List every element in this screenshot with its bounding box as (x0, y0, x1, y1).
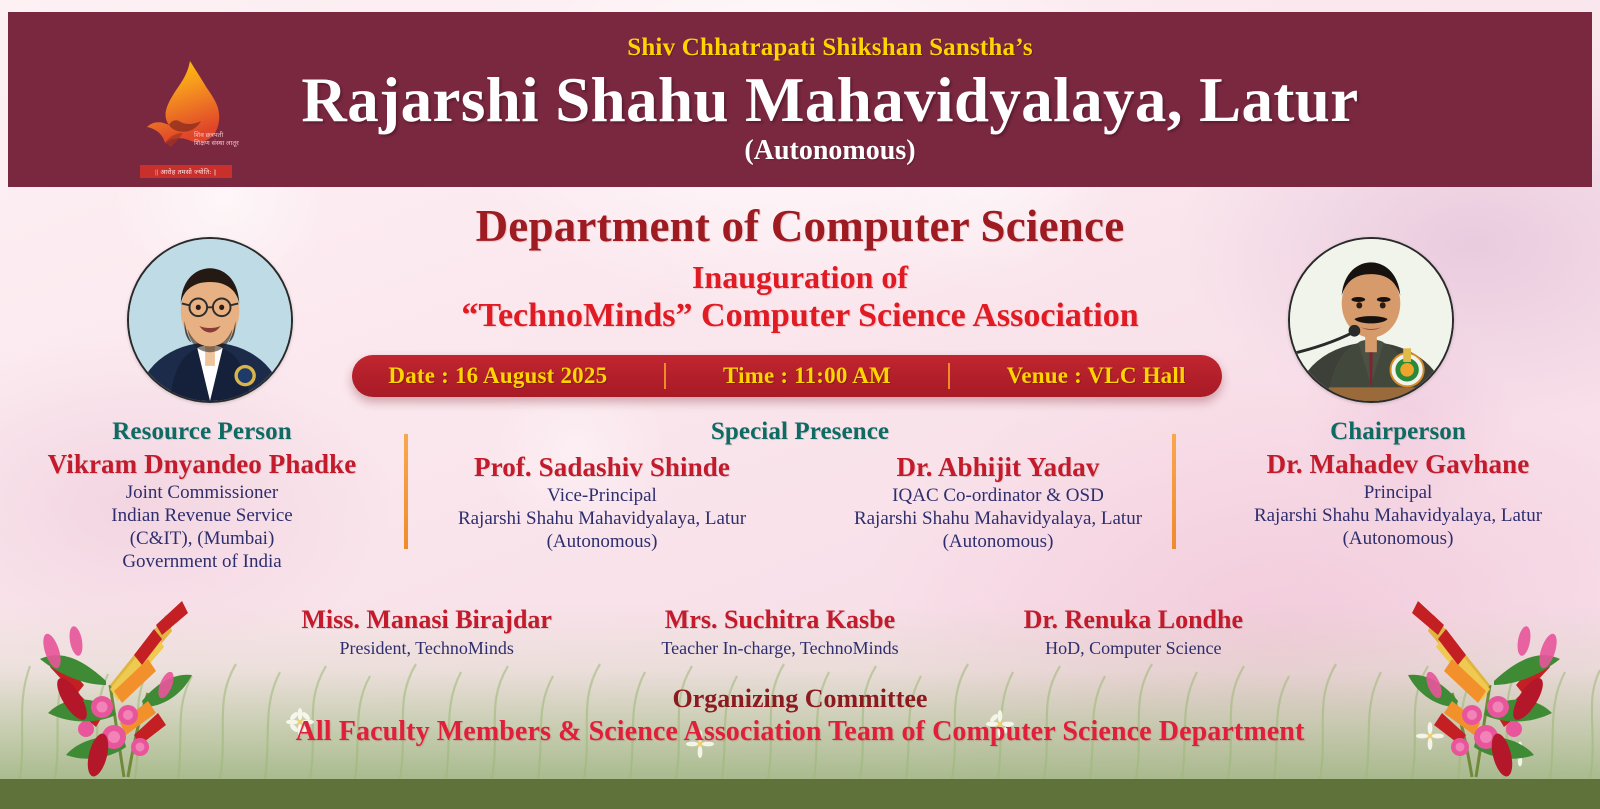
resource-person-photo (127, 237, 293, 403)
committee-person: Mrs. Suchitra Kasbe Teacher In-charge, T… (603, 604, 956, 660)
special-guest-1-autonomous: (Autonomous) (404, 530, 800, 553)
resource-person-role: Resource Person (0, 416, 404, 447)
header-text-block: Shiv Chhatrapati Shikshan Sanstha’s Raja… (8, 33, 1592, 167)
committee-person-role: HoD, Computer Science (957, 636, 1310, 660)
event-venue: Venue : VLC Hall (991, 363, 1202, 389)
special-guest-1: Prof. Sadashiv Shinde Vice-Principal Raj… (404, 450, 800, 553)
special-guest-2-institute: Rajarshi Shahu Mahavidyalaya, Latur (800, 507, 1196, 530)
event-details-ribbon: Date : 16 August 2025 Time : 11:00 AM Ve… (352, 355, 1222, 397)
special-guest-1-designation: Vice-Principal (404, 484, 800, 507)
committee-person-role: President, TechnoMinds (250, 636, 603, 660)
special-guest-2-autonomous: (Autonomous) (800, 530, 1196, 553)
logo-motto: || आरोह तमसो ज्योति: || (140, 165, 232, 178)
chairperson-photo (1288, 237, 1454, 403)
special-presence-role: Special Presence (404, 416, 1196, 447)
special-guest-2-designation: IQAC Co-ordinator & OSD (800, 484, 1196, 507)
chairperson-autonomous: (Autonomous) (1196, 527, 1600, 550)
special-guest-1-name: Prof. Sadashiv Shinde (404, 450, 800, 484)
banner-header: शिव छत्रपती शिक्षण संस्था लातूर || आरोह … (8, 12, 1592, 187)
committee-person: Dr. Renuka Londhe HoD, Computer Science (957, 604, 1310, 660)
event-date: Date : 16 August 2025 (372, 363, 623, 389)
chairperson-block: Chairperson Dr. Mahadev Gavhane Principa… (1196, 416, 1600, 573)
resource-person-line3: (C&IT), (Mumbai) (0, 527, 404, 550)
institution-logo: शिव छत्रपती शिक्षण संस्था लातूर || आरोह … (130, 38, 242, 178)
sanstha-name: Shiv Chhatrapati Shikshan Sanstha’s (68, 33, 1592, 63)
special-guest-2-name: Dr. Abhijit Yadav (800, 450, 1196, 484)
chairperson-name: Dr. Mahadev Gavhane (1196, 447, 1600, 481)
autonomous-label: (Autonomous) (68, 135, 1592, 167)
committee-person-role: Teacher In-charge, TechnoMinds (603, 636, 956, 660)
ribbon-separator (948, 363, 950, 389)
event-time: Time : 11:00 AM (707, 363, 907, 389)
chairperson-institute: Rajarshi Shahu Mahavidyalaya, Latur (1196, 504, 1600, 527)
special-guest-2: Dr. Abhijit Yadav IQAC Co-ordinator & OS… (800, 450, 1196, 553)
organizing-committee-line: All Faculty Members & Science Associatio… (0, 715, 1600, 749)
resource-person-block: Resource Person Vikram Dnyandeo Phadke J… (0, 416, 404, 573)
ribbon-separator (664, 363, 666, 389)
college-name: Rajarshi Shahu Mahavidyalaya, Latur (68, 64, 1592, 136)
committee-people-row: Miss. Manasi Birajdar President, TechnoM… (250, 604, 1310, 660)
dignitaries-row: Resource Person Vikram Dnyandeo Phadke J… (0, 416, 1600, 573)
committee-person-name: Dr. Renuka Londhe (957, 604, 1310, 636)
chairperson-role: Chairperson (1196, 416, 1600, 447)
resource-person-line2: Indian Revenue Service (0, 504, 404, 527)
logo-devanagari-text: शिव छत्रपती शिक्षण संस्था लातूर (194, 132, 240, 148)
organizing-committee-title: Organizing Committee (0, 683, 1600, 715)
committee-person-name: Mrs. Suchitra Kasbe (603, 604, 956, 636)
chairperson-designation: Principal (1196, 481, 1600, 504)
resource-person-line4: Government of India (0, 550, 404, 573)
footer-green-bar (0, 779, 1600, 809)
event-banner: शिव छत्रपती शिक्षण संस्था लातूर || आरोह … (0, 0, 1600, 809)
committee-person-name: Miss. Manasi Birajdar (250, 604, 603, 636)
resource-person-line1: Joint Commissioner (0, 481, 404, 504)
committee-person: Miss. Manasi Birajdar President, TechnoM… (250, 604, 603, 660)
special-presence-block: Special Presence Prof. Sadashiv Shinde V… (404, 416, 1196, 573)
resource-person-name: Vikram Dnyandeo Phadke (0, 447, 404, 481)
special-guest-1-institute: Rajarshi Shahu Mahavidyalaya, Latur (404, 507, 800, 530)
